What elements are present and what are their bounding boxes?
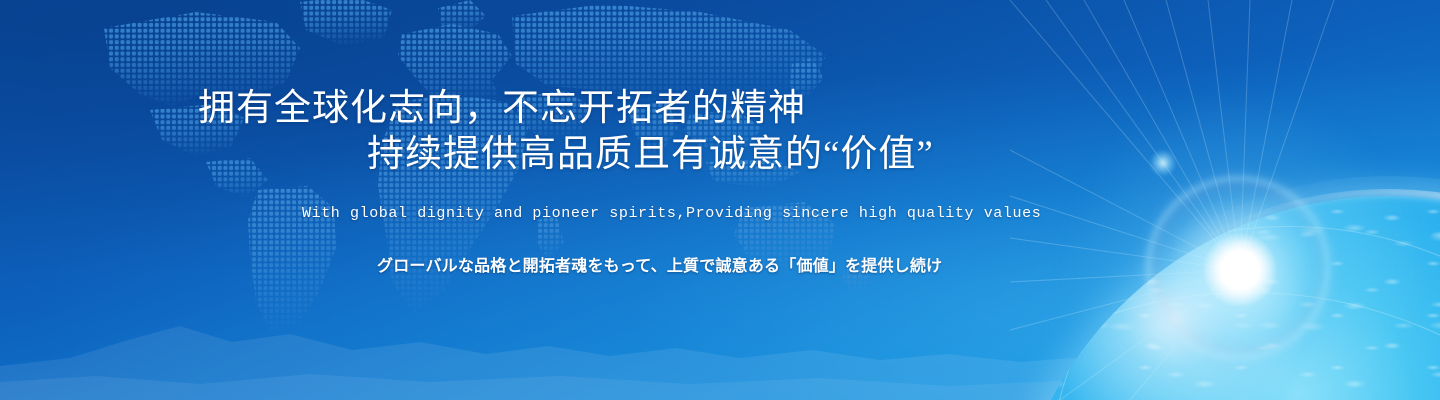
- hero-banner: 拥有全球化志向，不忘开拓者的精神 持续提供高品质且有诚意的“价值” With g…: [0, 0, 1440, 400]
- headline-line-2: 持续提供高品质且有诚意的“价值”: [367, 136, 934, 173]
- flare-core-glow: [1203, 233, 1277, 307]
- subtitle-english: With global dignity and pioneer spirits,…: [302, 206, 1041, 221]
- background-gradient-overlay: [0, 0, 1440, 400]
- sun-flare: [1240, 270, 1242, 272]
- subtitle-japanese: グローバルな品格と開拓者魂をもって、上質で誠意ある「価値」を提供し続け: [377, 259, 942, 275]
- planet-surface-texture: [1008, 196, 1440, 400]
- flare-rays: [0, 0, 1440, 400]
- lens-flare-dot: [1150, 150, 1176, 176]
- mountain-ridge-silhouette: [0, 270, 1200, 400]
- banner-copy: 拥有全球化志向，不忘开拓者的精神 持续提供高品质且有诚意的“价值” With g…: [0, 0, 1060, 400]
- flare-ring: [1145, 175, 1331, 361]
- earth-planet: [920, 0, 1440, 400]
- headline-line-1: 拥有全球化志向，不忘开拓者的精神: [198, 90, 806, 127]
- flare-mid-glow: [1145, 175, 1335, 365]
- flare-outer-glow: [1060, 90, 1420, 400]
- planet-disc: [1008, 196, 1440, 400]
- planet-arc-lines: [1008, 196, 1440, 400]
- planet-limb-highlight: [1001, 189, 1440, 400]
- dotted-world-map: [0, 0, 900, 339]
- planet-atmosphere-halo: [988, 176, 1440, 400]
